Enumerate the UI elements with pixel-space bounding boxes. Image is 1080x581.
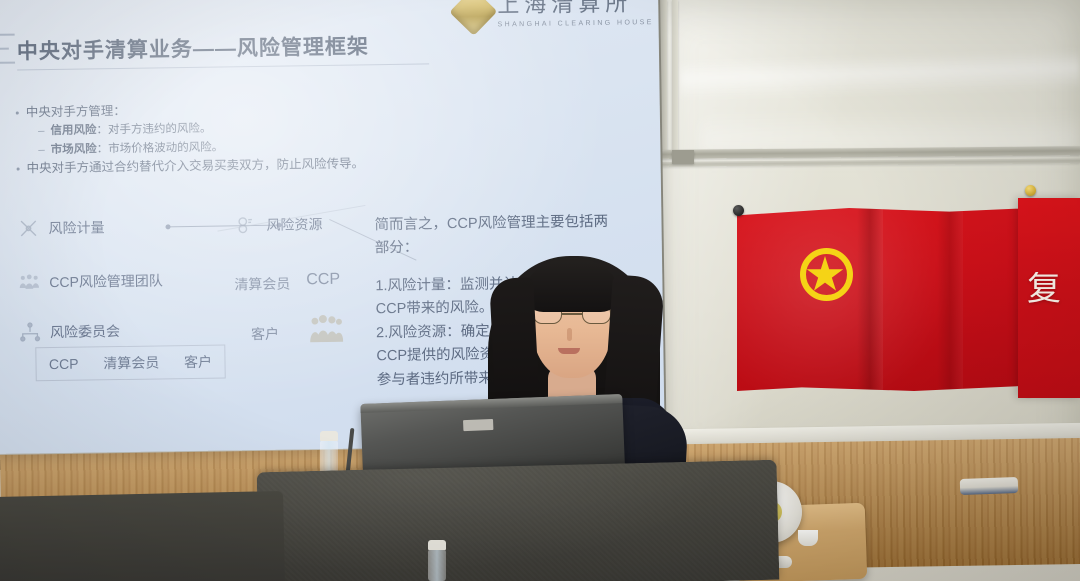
diagram-label-ccp: CCP xyxy=(306,271,340,289)
diagram-node-label: 风险计量 xyxy=(48,217,104,238)
cup[interactable] xyxy=(798,530,818,546)
sub-bullet-rest: ：对手方违约的风险。 xyxy=(96,123,211,137)
diagram-label-customer: 客户 xyxy=(251,324,279,344)
diagram-label-clearing-member: 清算会员 xyxy=(234,274,290,295)
sub-bullet-strong: 信用风险 xyxy=(50,125,96,138)
diagram-node-risk-committee: 风险委员会 xyxy=(19,320,120,343)
lectern-panel-secondary xyxy=(0,491,285,581)
diagram-node-risk-measurement: 风险计量 xyxy=(17,216,104,239)
bottom-box-item-ccp: CCP xyxy=(49,356,79,372)
logo-english-name: SHANGHAI CLEARING HOUSE xyxy=(497,19,653,28)
bullet-dot-icon xyxy=(16,112,19,115)
mouth xyxy=(558,348,580,354)
flag-pin-left xyxy=(733,205,744,216)
sub-bullet-strong: 市场风险 xyxy=(51,143,97,156)
water-bottle-left-cap xyxy=(320,431,338,441)
logo-chinese-name: 上海清算所 xyxy=(497,0,654,17)
dash-icon: – xyxy=(38,123,45,141)
diagram-node-ccp-risk-team: CCP风险管理团队 xyxy=(18,269,163,293)
nose xyxy=(567,328,572,341)
bullet-text: 中央对手方管理： xyxy=(26,102,126,123)
bullet-text: 中央对手方通过合约替代介入交易买卖双方，防止风险传导。 xyxy=(26,155,364,179)
whiteboard-eraser[interactable] xyxy=(960,477,1019,495)
lectern-panel xyxy=(257,460,780,581)
flag-pin-gold xyxy=(1025,185,1036,196)
communist-youth-league-flag xyxy=(737,208,1032,391)
diagram-node-label: 风险委员会 xyxy=(50,321,120,342)
glasses-bridge xyxy=(562,313,582,315)
water-bottle-front-cap xyxy=(428,540,446,550)
diagram-node-label: CCP风险管理团队 xyxy=(49,270,163,292)
water-bottle-front[interactable] xyxy=(428,549,446,581)
bottom-box-item-clearing-member: 清算会员 xyxy=(103,352,159,373)
lectern-texture xyxy=(257,460,780,581)
bottom-box-item-customer: 客户 xyxy=(184,352,212,372)
risk-framework-diagram: 风险计量 风险资源 xyxy=(17,204,400,390)
people-group-icon xyxy=(18,271,40,293)
title-bracket-decoration xyxy=(0,34,15,64)
banner-text: 复 xyxy=(1027,272,1080,306)
diagram-bottom-box: CCP 清算会员 客户 xyxy=(35,344,225,381)
slide-title: 中央对手清算业务——风险管理框架 xyxy=(17,30,369,65)
monitor-label-sticker xyxy=(463,419,493,431)
ruler-tools-icon xyxy=(17,217,39,239)
org-chart-icon xyxy=(19,321,41,343)
dash-icon: – xyxy=(38,141,45,159)
whiteboard-rail-bracket xyxy=(672,150,694,164)
company-logo: 上海清算所 SHANGHAI CLEARING HOUSE xyxy=(456,0,654,29)
gold-cube-icon xyxy=(449,0,497,36)
screenshot-root: 复 上海清算所 SHANGHAI CLEARING HOUSE 中央对手清算业务… xyxy=(0,0,1080,581)
bullet-list: 中央对手方管理： – 信用风险：对手方违约的风险。 – 市场风险：市场价格波动的… xyxy=(16,97,437,179)
bullet-dot-icon xyxy=(17,168,20,171)
whiteboard-rail-vertical-3 xyxy=(672,0,678,150)
crowd-icon xyxy=(309,313,343,344)
sub-bullet-rest: ：市场价格波动的风险。 xyxy=(97,141,224,155)
